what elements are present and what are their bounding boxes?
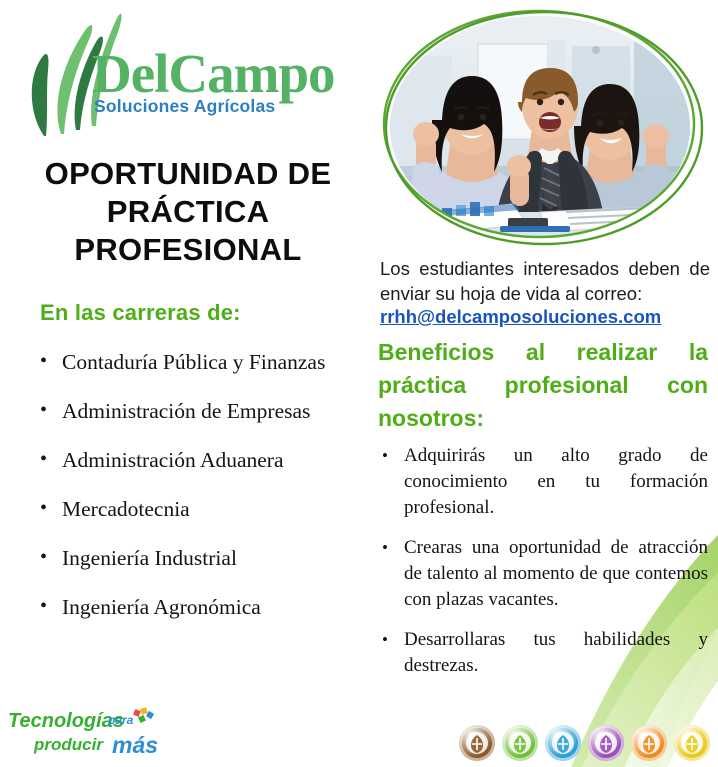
- benefit-text: Desarrollaras tus habilidades y destreza…: [404, 629, 708, 676]
- bullet-icon: •: [40, 347, 47, 375]
- benefit-text: Crearas una oportunidad de atracción de …: [404, 537, 708, 610]
- career-list-item: •Ingeniería Industrial: [36, 544, 366, 572]
- career-label: Mercadotecnia: [62, 497, 190, 521]
- career-list-item: •Mercadotecnia: [36, 495, 366, 523]
- bullet-icon: •: [40, 396, 47, 424]
- bullet-icon: •: [40, 445, 47, 473]
- career-list-item: •Contaduría Pública y Finanzas: [36, 348, 366, 376]
- benefit-list-item: •Crearas una oportunidad de atracción de…: [378, 535, 708, 613]
- brand-name: DelCampo: [92, 46, 335, 102]
- bullet-icon: •: [382, 627, 388, 653]
- contact-email-link[interactable]: rrhh@delcamposoluciones.com: [380, 306, 710, 328]
- badge-crop-protection-icon: [588, 725, 624, 761]
- left-column: DelCampo Soluciones Agrícolas OPORTUNIDA…: [0, 0, 372, 767]
- poster-canvas: DelCampo Soluciones Agrícolas OPORTUNIDA…: [0, 0, 718, 767]
- contact-instructions: Los estudiantes interesados deben de env…: [380, 256, 710, 306]
- badge-irrigation-icon: [545, 725, 581, 761]
- svg-text:para: para: [107, 713, 134, 727]
- benefits-list: •Adquirirás un alto grado de conocimient…: [378, 443, 708, 693]
- career-label: Ingeniería Industrial: [62, 546, 237, 570]
- career-list-item: •Ingeniería Agronómica: [36, 593, 366, 621]
- bullet-icon: •: [382, 443, 388, 469]
- badge-soil-icon: [459, 725, 495, 761]
- careers-list: •Contaduría Pública y Finanzas•Administr…: [36, 348, 366, 642]
- svg-text:más: más: [112, 732, 158, 758]
- benefits-heading: Beneficios al realizar la práctica profe…: [378, 336, 708, 435]
- badge-seeds-icon: [674, 725, 710, 761]
- svg-text:Tecnologías: Tecnologías: [8, 710, 124, 732]
- career-label: Contaduría Pública y Finanzas: [62, 350, 325, 374]
- bullet-icon: •: [40, 494, 47, 522]
- benefit-text: Adquirirás un alto grado de conocimiento…: [404, 445, 708, 518]
- bullet-icon: •: [40, 543, 47, 571]
- brand-logo: DelCampo Soluciones Agrícolas: [14, 8, 344, 143]
- badge-machinery-icon: [631, 725, 667, 761]
- career-label: Ingeniería Agronómica: [62, 595, 261, 619]
- oval-frame-ring: [376, 4, 706, 252]
- badge-plant-nutrition-icon: [502, 725, 538, 761]
- right-column: Los estudiantes interesados deben de env…: [372, 0, 718, 767]
- careers-heading: En las carreras de:: [40, 300, 241, 326]
- bullet-icon: •: [382, 535, 388, 561]
- career-label: Administración Aduanera: [62, 448, 284, 472]
- benefit-list-item: •Desarrollaras tus habilidades y destrez…: [378, 627, 708, 679]
- certification-badges-row: [459, 725, 710, 761]
- tecnologias-para-producir-mas-logo: Tecnologías para producir más: [6, 703, 166, 759]
- page-title: OPORTUNIDAD DE PRÁCTICA PROFESIONAL: [18, 155, 358, 269]
- hero-photo-frame: [376, 4, 706, 252]
- svg-text:producir: producir: [33, 735, 104, 754]
- benefit-list-item: •Adquirirás un alto grado de conocimient…: [378, 443, 708, 521]
- pinwheel-accent: [133, 707, 154, 723]
- career-list-item: •Administración Aduanera: [36, 446, 366, 474]
- career-label: Administración de Empresas: [62, 399, 310, 423]
- career-list-item: •Administración de Empresas: [36, 397, 366, 425]
- bullet-icon: •: [40, 592, 47, 620]
